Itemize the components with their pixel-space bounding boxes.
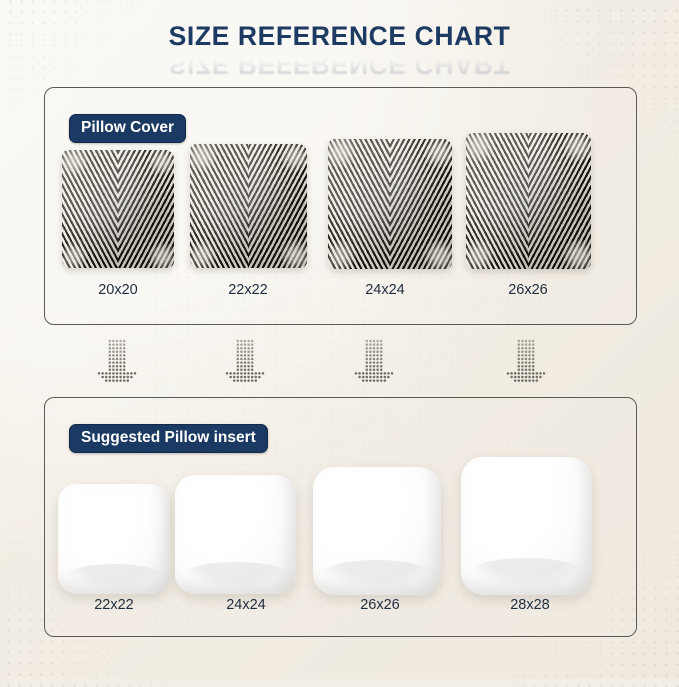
pillow-insert-22x22 bbox=[58, 484, 170, 594]
pillow-insert-badge: Suggested Pillow insert bbox=[69, 424, 268, 453]
dotted-down-arrow-icon-4 bbox=[505, 338, 547, 383]
insert-size-label-1: 22x22 bbox=[54, 597, 174, 613]
infographic-page: SIZE REFERENCE CHART SIZE REFERENCE CHAR… bbox=[0, 0, 679, 679]
pillow-cover-22x22 bbox=[190, 144, 307, 268]
cover-size-label-3: 24x24 bbox=[325, 282, 445, 298]
page-title-block: SIZE REFERENCE CHART SIZE REFERENCE CHAR… bbox=[0, 23, 679, 77]
insert-size-label-4: 28x28 bbox=[470, 597, 590, 613]
dotted-down-arrow-icon-3 bbox=[353, 338, 395, 383]
pillow-insert-28x28 bbox=[461, 457, 592, 595]
page-title: SIZE REFERENCE CHART bbox=[0, 23, 679, 50]
dotted-down-arrow-icon-1 bbox=[96, 338, 138, 383]
cover-size-label-1: 20x20 bbox=[58, 282, 178, 298]
page-title-reflection: SIZE REFERENCE CHART bbox=[0, 51, 679, 78]
pillow-cover-24x24 bbox=[328, 139, 452, 269]
pillow-cover-badge: Pillow Cover bbox=[69, 114, 186, 143]
pillow-cover-26x26 bbox=[466, 133, 591, 269]
dotted-down-arrow-icon-2 bbox=[224, 338, 266, 383]
pillow-insert-24x24 bbox=[175, 475, 296, 594]
insert-size-label-3: 26x26 bbox=[320, 597, 440, 613]
cover-size-label-2: 22x22 bbox=[188, 282, 308, 298]
pillow-cover-20x20 bbox=[62, 150, 174, 268]
insert-size-label-2: 24x24 bbox=[186, 597, 306, 613]
cover-size-label-4: 26x26 bbox=[468, 282, 588, 298]
pillow-insert-26x26 bbox=[313, 467, 441, 595]
